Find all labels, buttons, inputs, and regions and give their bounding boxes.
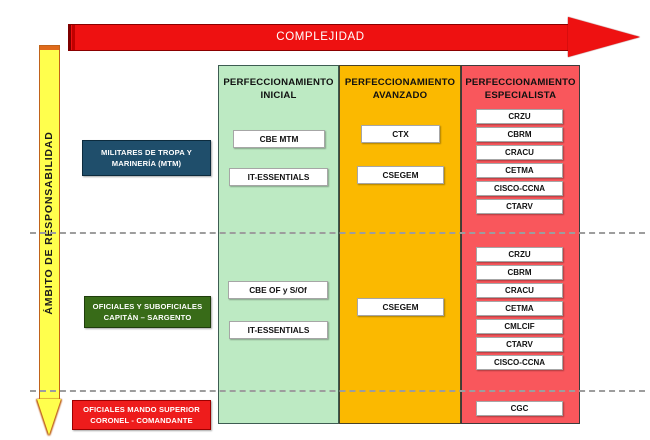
column-perfeccionamiento-avanzado: PERFECCIONAMIENTO AVANZADO CTX CSEGEM CS…	[339, 65, 461, 424]
course-chip[interactable]: CTX	[361, 125, 440, 143]
column-title-especialista-line1: PERFECCIONAMIENTO	[465, 77, 575, 88]
column-title-especialista-line2: ESPECIALISTA	[485, 90, 557, 101]
course-chip[interactable]: CSEGEM	[357, 166, 444, 184]
course-chip[interactable]: CBRM	[476, 265, 563, 280]
course-chip[interactable]: CBE OF y S/Of	[228, 281, 328, 299]
column-title-inicial: PERFECCIONAMIENTO INICIAL	[219, 76, 338, 102]
band-separator-oficiales-mando	[30, 390, 645, 392]
course-chip[interactable]: CGC	[476, 401, 563, 416]
column-title-avanzado: PERFECCIONAMIENTO AVANZADO	[340, 76, 460, 102]
complexity-axis-label: COMPLEJIDAD	[68, 24, 573, 51]
course-chip[interactable]: CRZU	[476, 109, 563, 124]
column-perfeccionamiento-especialista: PERFECCIONAMIENTO ESPECIALISTA CRZU CBRM…	[461, 65, 580, 424]
course-chip[interactable]: CTARV	[476, 337, 563, 352]
column-title-avanzado-line2: AVANZADO	[373, 90, 428, 101]
course-chip[interactable]: CRZU	[476, 247, 563, 262]
course-chip[interactable]: CETMA	[476, 163, 563, 178]
course-chip[interactable]: CMLCIF	[476, 319, 563, 334]
course-chip[interactable]: CRACU	[476, 145, 563, 160]
responsibility-axis-label: ÁMBITO DE RESPONSABILIDAD	[39, 48, 59, 398]
role-label-mando-superior: OFICIALES MANDO SUPERIOR CORONEL - COMAN…	[72, 400, 211, 430]
course-chip[interactable]: IT-ESSENTIALS	[229, 321, 328, 339]
responsibility-arrow-head-icon	[37, 399, 61, 435]
band-separator-mtm-oficiales	[30, 232, 645, 234]
column-title-inicial-line1: PERFECCIONAMIENTO	[223, 77, 333, 88]
role-label-mando-line1: OFICIALES MANDO SUPERIOR	[73, 404, 210, 415]
course-chip[interactable]: CISCO-CCNA	[476, 181, 563, 196]
course-chip[interactable]: CETMA	[476, 301, 563, 316]
role-label-mando-line2: CORONEL - COMANDANTE	[73, 415, 210, 426]
course-chip[interactable]: CBE MTM	[233, 130, 325, 148]
role-label-mtm-line2: MARINERÍA (MTM)	[83, 158, 210, 169]
role-label-oficiales-line2: CAPITÁN – SARGENTO	[85, 312, 210, 323]
column-title-inicial-line2: INICIAL	[260, 90, 296, 101]
course-chip[interactable]: CISCO-CCNA	[476, 355, 563, 370]
role-label-oficiales-suboficiales: OFICIALES Y SUBOFICIALES CAPITÁN – SARGE…	[84, 296, 211, 328]
complexity-arrow-head-icon	[568, 17, 640, 57]
responsibility-axis-arrow: ÁMBITO DE RESPONSABILIDAD	[37, 45, 62, 436]
column-title-avanzado-line1: PERFECCIONAMIENTO	[345, 77, 455, 88]
course-chip[interactable]: CSEGEM	[357, 298, 444, 316]
complexity-axis-arrow: COMPLEJIDAD	[68, 17, 640, 58]
column-title-especialista: PERFECCIONAMIENTO ESPECIALISTA	[462, 76, 579, 102]
role-label-oficiales-line1: OFICIALES Y SUBOFICIALES	[85, 301, 210, 312]
course-chip[interactable]: IT-ESSENTIALS	[229, 168, 328, 186]
role-label-mtm-line1: MILITARES DE TROPA Y	[83, 147, 210, 158]
diagram-canvas: COMPLEJIDAD ÁMBITO DE RESPONSABILIDAD PE…	[0, 0, 650, 440]
course-chip[interactable]: CBRM	[476, 127, 563, 142]
course-chip[interactable]: CTARV	[476, 199, 563, 214]
role-label-mtm: MILITARES DE TROPA Y MARINERÍA (MTM)	[82, 140, 211, 176]
course-chip[interactable]: CRACU	[476, 283, 563, 298]
column-perfeccionamiento-inicial: PERFECCIONAMIENTO INICIAL CBE MTM IT-ESS…	[218, 65, 339, 424]
